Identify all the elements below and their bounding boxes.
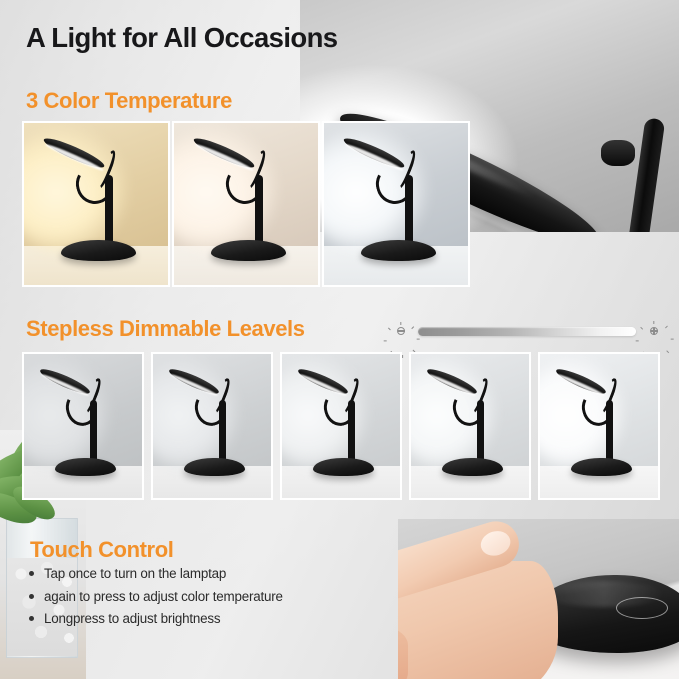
sun-ray [384, 340, 387, 341]
card-lamp-base [313, 458, 374, 477]
sun-ray [411, 326, 414, 329]
card-lamp-neck [90, 400, 96, 463]
card-lamp-base [571, 458, 632, 477]
dimmable-card-level-4[interactable] [409, 352, 531, 500]
sun-ray [671, 339, 674, 340]
card-lamp-neck [219, 400, 225, 463]
hand [398, 561, 558, 679]
card-lamp-base [55, 458, 116, 477]
brightness-slider-track[interactable] [418, 327, 636, 336]
card-lamp-neck [348, 400, 354, 463]
list-item: Longpress to adjust brightness [28, 611, 358, 626]
sun-ray [417, 339, 420, 340]
section-heading-dimmable: Stepless Dimmable Leavels [26, 316, 305, 342]
sun-ray [653, 321, 654, 324]
color-temperature-card-warm-yellow[interactable] [22, 121, 170, 287]
card-lamp-neck [255, 175, 263, 246]
dimmable-card-level-1[interactable] [22, 352, 144, 500]
dimmable-card-level-2[interactable] [151, 352, 273, 500]
card-lamp-base [442, 458, 503, 477]
card-lamp-base [211, 240, 286, 261]
card-lamp-base [61, 240, 136, 261]
touch-sensor-ring-icon [616, 597, 668, 619]
color-temperature-card-cool-white[interactable] [322, 121, 470, 287]
dimmable-card-level-5[interactable] [538, 352, 660, 500]
sun-bar-h [398, 330, 405, 331]
card-lamp-neck [105, 175, 113, 246]
color-temperature-card-warm-white[interactable] [172, 121, 320, 287]
sun-ray [636, 340, 639, 341]
dimmable-gallery [22, 352, 662, 500]
sun-ray [640, 327, 643, 330]
card-lamp-neck [405, 175, 413, 246]
brightness-slider[interactable] [392, 318, 664, 344]
list-item: Tap once to turn on the lamptap [28, 566, 358, 581]
section-heading-color-temperature: 3 Color Temperature [26, 88, 232, 114]
hero-head-joint [601, 140, 635, 166]
sun-large-icon [644, 321, 664, 341]
dimmable-card-level-3[interactable] [280, 352, 402, 500]
section-heading-touch-control: Touch Control [30, 537, 173, 563]
page-title: A Light for All Occasions [26, 22, 337, 54]
sun-small-icon [392, 322, 410, 340]
list-item: again to press to adjust color temperatu… [28, 589, 358, 604]
touch-control-bullet-list: Tap once to turn on the lamptap again to… [28, 566, 358, 634]
finger-touching-lamp-base-photo [398, 519, 679, 679]
sun-ray [400, 322, 401, 325]
card-lamp-neck [606, 400, 612, 463]
color-temperature-gallery [22, 121, 472, 287]
card-lamp-base [361, 240, 436, 261]
hand-knuckles [398, 625, 408, 679]
infographic-page: A Light for All Occasions 3 Color Temper… [0, 0, 679, 679]
fingernail [478, 528, 514, 560]
card-lamp-base [184, 458, 245, 477]
sun-bar-v [653, 328, 654, 335]
card-lamp-neck [477, 400, 483, 463]
